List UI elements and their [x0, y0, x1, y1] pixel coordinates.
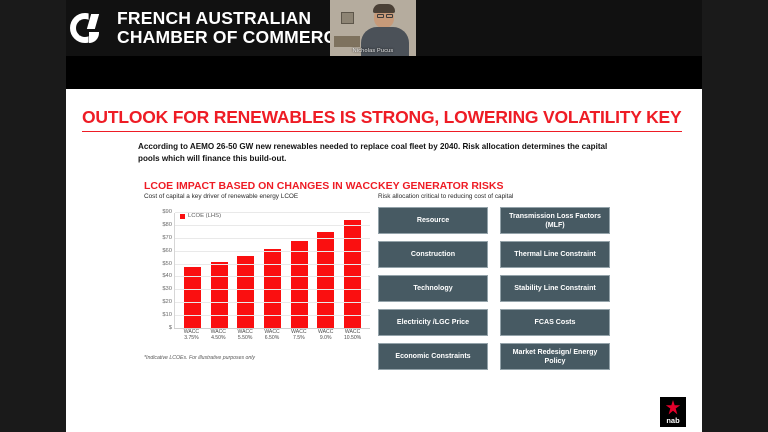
page-title: OUTLOOK FOR RENEWABLES IS STRONG, LOWERI…	[82, 107, 682, 128]
chart-bar	[211, 262, 228, 329]
chart-y-tick-label: $20	[162, 299, 172, 305]
participant-name-label: Nicholas Pucus	[330, 48, 416, 54]
video-call-app: FRENCH AUSTRALIAN CHAMBER OF COMMERCE Ni…	[0, 0, 768, 432]
risk-box[interactable]: Economic Constraints	[378, 343, 488, 370]
chart-y-tick-label: $30	[162, 286, 172, 292]
chart-gridline: $10	[175, 315, 370, 316]
chart-x-tick-label: WACC10.50%	[339, 329, 366, 351]
nab-star-icon	[666, 400, 681, 415]
chart-x-axis-labels: WACC3.75%WACC4.50%WACC5.50%WACC6.50%WACC…	[174, 329, 370, 351]
chart-bars	[175, 213, 370, 329]
legend-swatch-lcoe	[180, 214, 185, 219]
presentation-slide: OUTLOOK FOR RENEWABLES IS STRONG, LOWERI…	[66, 89, 702, 432]
risk-box[interactable]: Market Redesign/ Energy Policy	[500, 343, 610, 370]
letterbox-right	[702, 0, 768, 432]
chart-gridline: $30	[175, 289, 370, 290]
chart-y-tick-label: $80	[162, 222, 172, 228]
chart-y-tick-label: $90	[162, 209, 172, 215]
participant-video-tile[interactable]: Nicholas Pucus	[330, 0, 416, 56]
risk-box[interactable]: Resource	[378, 207, 488, 234]
chart-subheading: Cost of capital a key driver of renewabl…	[144, 193, 298, 200]
chart-bar	[237, 256, 254, 329]
chart-y-tick-label: $	[169, 325, 172, 331]
risk-box[interactable]: Construction	[378, 241, 488, 268]
slide-lede-text: According to AEMO 26-50 GW new renewable…	[138, 141, 628, 164]
shelf	[334, 36, 360, 47]
chart-x-tick-label: WACC9.0%	[312, 329, 339, 351]
lcoe-bar-chart: $$10$20$30$40$50$60$70$80$90 LCOE (LHS) …	[144, 207, 372, 351]
chart-plot-area: $$10$20$30$40$50$60$70$80$90	[174, 213, 370, 329]
risk-box[interactable]: Thermal Line Constraint	[500, 241, 610, 268]
nab-wordmark: nab	[666, 416, 679, 425]
chart-x-tick-label: WACC7.5%	[285, 329, 312, 351]
chart-y-tick-label: $50	[162, 261, 172, 267]
risks-heading: KEY GENERATOR RISKS	[378, 180, 503, 192]
risk-box[interactable]: FCAS Costs	[500, 309, 610, 336]
chart-gridline: $70	[175, 238, 370, 239]
chart-x-tick-label: WACC6.50%	[259, 329, 286, 351]
org-line-2: CHAMBER OF COMMERCE	[117, 28, 348, 47]
chart-gridline: $40	[175, 276, 370, 277]
chamber-logo-icon	[70, 11, 104, 45]
chart-gridline: $20	[175, 302, 370, 303]
risk-box[interactable]: Technology	[378, 275, 488, 302]
risk-box[interactable]: Stability Line Constraint	[500, 275, 610, 302]
chart-x-tick-label: WACC5.50%	[232, 329, 259, 351]
chart-footnote: *Indicative LCOEs. For illustrative purp…	[144, 355, 255, 361]
nab-logo: nab	[660, 397, 686, 427]
letterbox-left	[0, 0, 66, 432]
slide-top-bar	[66, 56, 702, 89]
glasses-right	[386, 14, 393, 18]
chart-x-tick-label: WACC4.50%	[205, 329, 232, 351]
org-line-1: FRENCH AUSTRALIAN	[117, 9, 348, 28]
chart-y-tick-label: $70	[162, 235, 172, 241]
wall-picture	[341, 12, 354, 24]
chart-y-tick-label: $60	[162, 248, 172, 254]
chart-legend: LCOE (LHS)	[180, 213, 221, 219]
chart-heading: LCOE IMPACT BASED ON CHANGES IN WACC	[144, 180, 378, 192]
chart-y-tick-label: $10	[162, 312, 172, 318]
chart-bar	[344, 220, 361, 329]
title-divider	[82, 131, 682, 132]
chart-gridline: $80	[175, 225, 370, 226]
organization-name: FRENCH AUSTRALIAN CHAMBER OF COMMERCE	[117, 9, 348, 47]
risk-box[interactable]: Electricity /LGC Price	[378, 309, 488, 336]
chart-y-tick-label: $40	[162, 273, 172, 279]
risk-box-grid: ResourceTransmission Loss Factors (MLF)C…	[378, 207, 610, 370]
legend-label-lcoe: LCOE (LHS)	[188, 213, 221, 219]
chart-x-tick-label: WACC3.75%	[178, 329, 205, 351]
chart-gridline: $50	[175, 264, 370, 265]
glasses-left	[377, 14, 384, 18]
risks-subheading: Risk allocation critical to reducing cos…	[378, 193, 513, 200]
participant-hair	[373, 4, 395, 13]
risk-box[interactable]: Transmission Loss Factors (MLF)	[500, 207, 610, 234]
chart-gridline: $60	[175, 251, 370, 252]
